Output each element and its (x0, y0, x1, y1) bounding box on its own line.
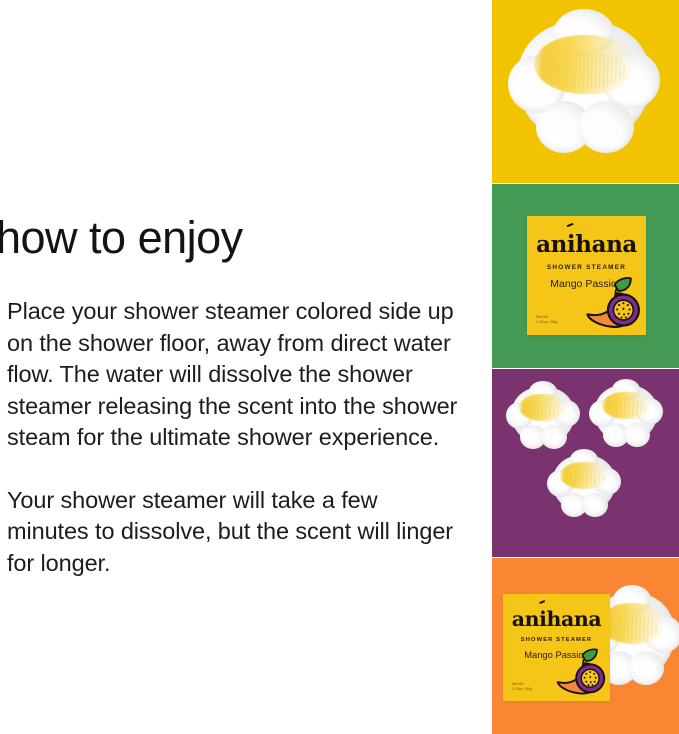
product-box: anihana SHOWER STEAMER Mango Passion Net… (527, 216, 646, 335)
panel-box-with-steamer: anihana SHOWER STEAMER Mango Passion Net… (492, 558, 679, 734)
instruction-paragraph-2: Your shower steamer will take a few minu… (7, 485, 459, 580)
net-weight-value: 1.76oz / 50g (512, 687, 532, 692)
puck-color-wash (519, 394, 566, 421)
net-weight-value: 1.76oz / 50g (536, 319, 557, 325)
panel-steamer-trio (492, 369, 679, 557)
brand-text-pre: an (512, 607, 539, 631)
shower-steamer-puck (595, 385, 657, 441)
puck-color-wash (602, 392, 649, 419)
panel-steamer-hero (492, 0, 679, 183)
product-image-strip: anihana SHOWER STEAMER Mango Passion Net… (492, 0, 679, 734)
how-to-enjoy-page: how to enjoy Place your shower steamer c… (0, 0, 679, 734)
page-title: how to enjoy (0, 212, 466, 264)
brand-accent-i: i (567, 231, 575, 258)
brand-wordmark: anihana (527, 233, 646, 256)
puck-color-wash (560, 462, 607, 489)
shower-steamer-puck (553, 455, 615, 511)
mango-passionfruit-icon (551, 643, 607, 699)
mango-passionfruit-icon (580, 271, 642, 333)
net-weight: Net Wt. 1.76oz / 50g (512, 682, 532, 692)
shower-steamer-puck (512, 387, 574, 443)
product-box: anihana SHOWER STEAMER Mango Passion Net… (503, 594, 610, 701)
puck-lobe (628, 651, 664, 685)
net-weight: Net Wt. 1.76oz / 50g (536, 314, 557, 325)
shower-steamer-puck (518, 21, 650, 141)
puck-color-wash (534, 35, 634, 94)
brand-text-pre: an (536, 231, 567, 258)
brand-text-post: hana (547, 607, 602, 631)
puck-lobe (582, 493, 608, 517)
puck-lobe (541, 425, 567, 449)
brand-wordmark: anihana (503, 609, 610, 630)
body-copy: Place your shower steamer colored side u… (7, 296, 459, 579)
brand-accent-i: i (539, 607, 546, 631)
puck-lobe (578, 101, 634, 153)
puck-lobe (624, 423, 650, 447)
copy-column: how to enjoy Place your shower steamer c… (0, 0, 480, 734)
brand-text-post: hana (575, 231, 637, 258)
instruction-paragraph-1: Place your shower steamer colored side u… (7, 296, 459, 454)
panel-product-box-green: anihana SHOWER STEAMER Mango Passion Net… (492, 184, 679, 368)
